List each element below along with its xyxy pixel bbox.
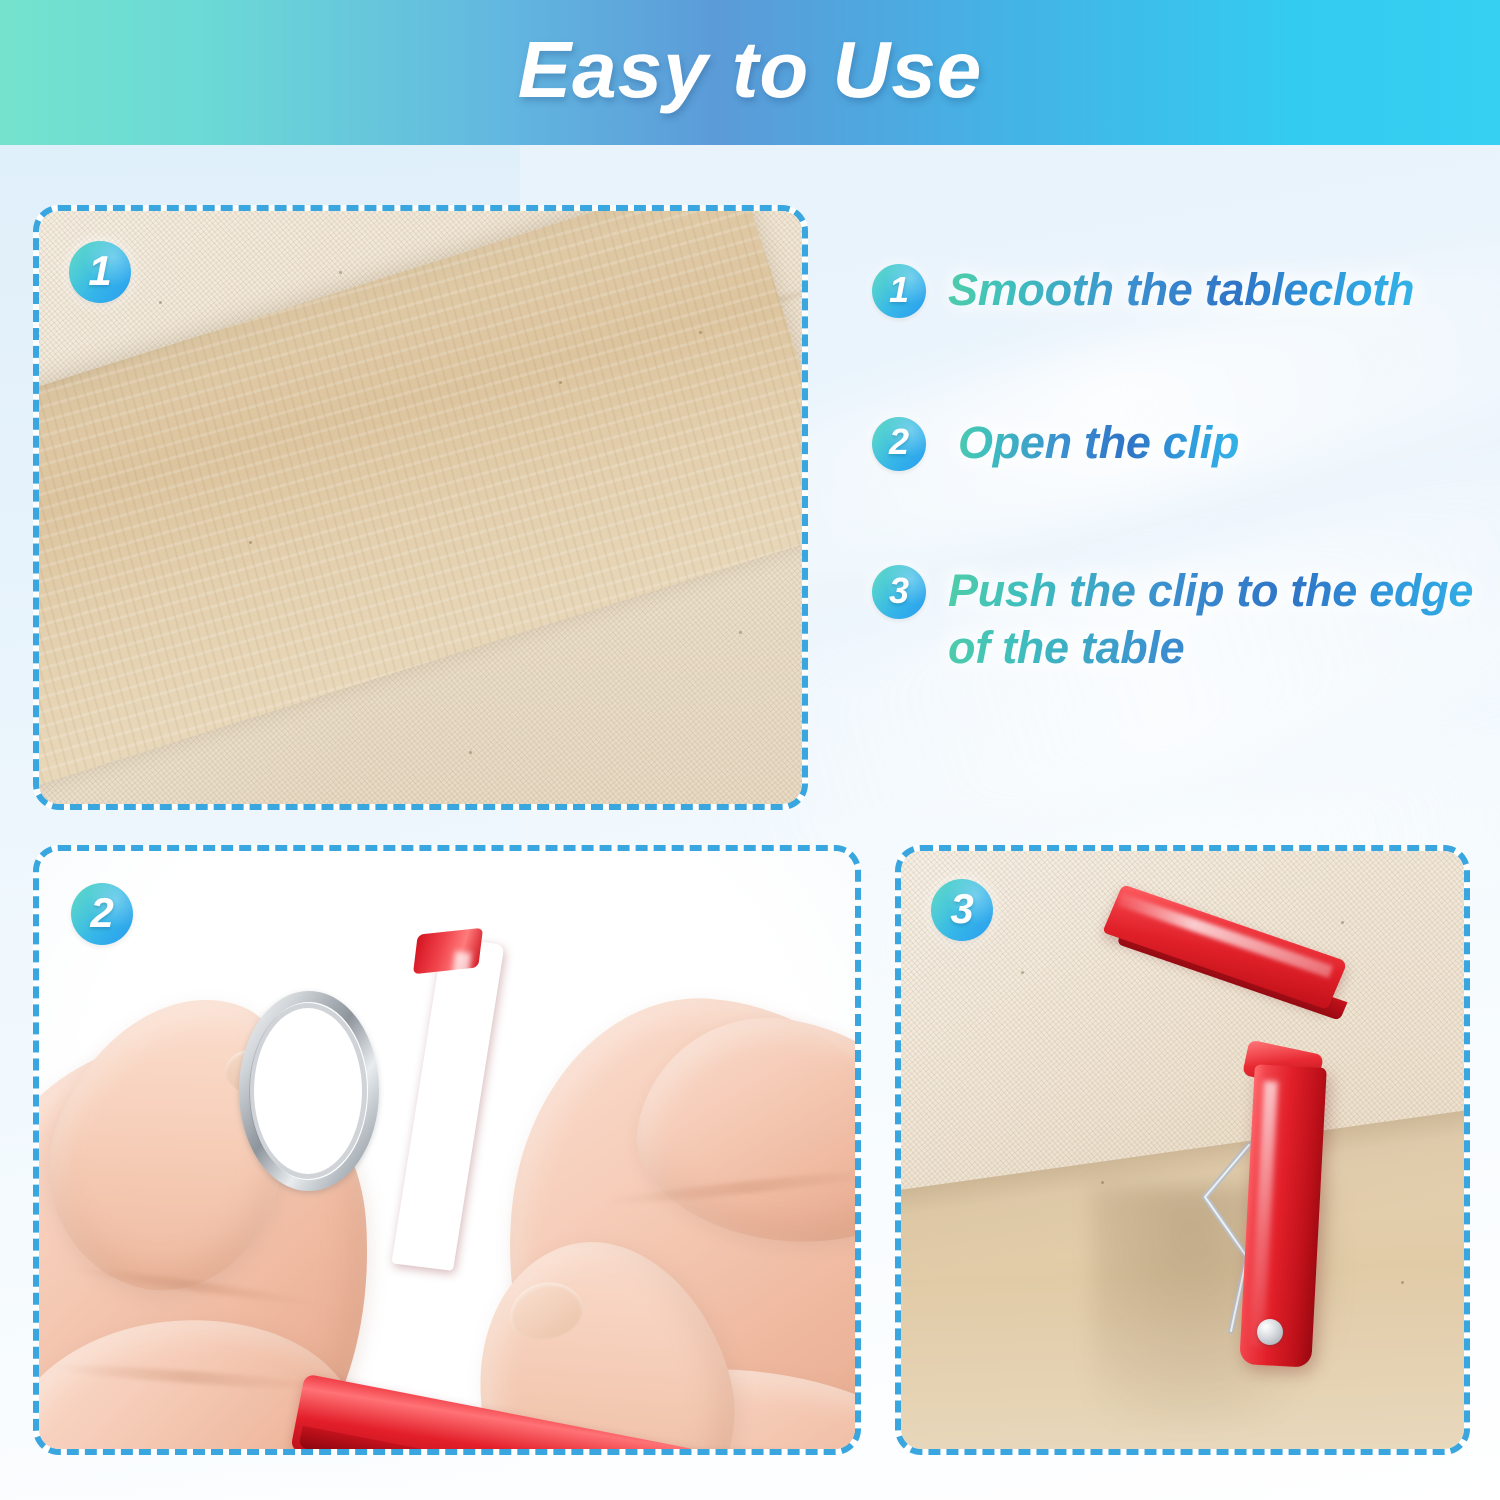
infographic-page: Easy to Use 1 [0,0,1500,1500]
fabric-speck [159,301,162,304]
fabric-speck [339,271,342,274]
instruction-step-2: 2 Open the clip [872,415,1492,472]
header-banner: Easy to Use [0,0,1500,145]
fabric-speck [249,541,252,544]
step-badge-number: 3 [950,888,973,930]
step-badge-number: 1 [88,250,111,292]
page-title: Easy to Use [518,30,983,116]
step-photo-panel-1: 1 [33,205,808,810]
step-badge-2: 2 [71,883,133,945]
step-number: 3 [889,573,909,609]
step-photo-panel-2: 2 [33,845,861,1455]
hands-opening-clip-photo [39,851,855,1449]
instruction-step-list: 1 Smooth the tablecloth 2 Open the clip … [872,262,1492,755]
fabric-speck [469,751,472,754]
fabric-speck [559,381,562,384]
step-number-badge-3: 3 [872,565,926,619]
step-number-badge-1: 1 [872,264,926,318]
step-badge-3: 3 [931,879,993,941]
step-number: 2 [889,424,909,460]
clip-rivet [1257,1319,1283,1345]
step-badge-number: 2 [90,892,113,934]
step-label-3: Push the clip to the edge of the table [948,563,1492,676]
instruction-step-1: 1 Smooth the tablecloth [872,262,1492,319]
fabric-speck [739,631,742,634]
step-badge-1: 1 [69,241,131,303]
step-number: 1 [889,272,909,308]
fabric-speck [1101,1181,1104,1184]
step-label-2: Open the clip [948,415,1239,472]
fabric-speck [1341,921,1344,924]
clip-arm-tip [413,928,483,975]
step-number-badge-2: 2 [872,417,926,471]
fabric-speck [1021,971,1024,974]
instruction-step-3: 3 Push the clip to the edge of the table [872,563,1492,676]
clip-on-table-edge-photo [901,851,1464,1449]
fabric-speck [699,331,702,334]
tablecloth-closeup-photo [39,211,802,804]
step-label-1: Smooth the tablecloth [948,262,1414,319]
step-photo-panel-3: 3 [895,845,1470,1455]
fabric-speck [1401,1281,1404,1284]
split-key-ring-inner [249,1003,367,1179]
